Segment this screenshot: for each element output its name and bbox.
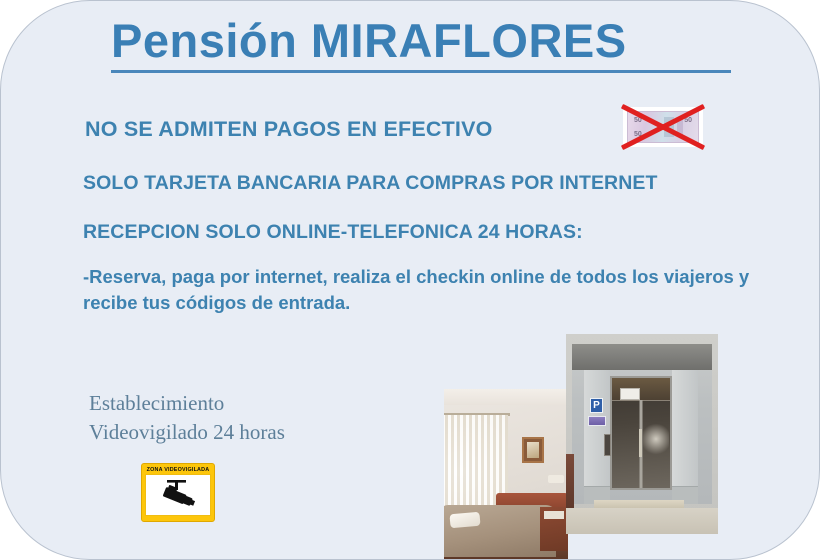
notice-card-only: SOLO TARJETA BANCARIA PARA COMPRAS POR I…: [83, 172, 658, 195]
entrance-secondary-plaque: [588, 416, 606, 426]
entrance-door-notice: [620, 388, 640, 400]
bedroom-nightstand: [540, 507, 568, 551]
entrance-photo: P: [566, 334, 718, 534]
bedroom-framed-picture: [522, 437, 544, 463]
notice-no-cash: NO SE ADMITEN PAGOS EN EFECTIVO: [85, 117, 493, 142]
entrance-neighbouring-wall: [566, 454, 574, 508]
video-surveillance-sign: ZONA VIDEOVIGILADA: [141, 463, 215, 522]
entrance-pavement: [566, 508, 718, 534]
notice-paragraph: -Reserva, paga por internet, realiza el …: [83, 264, 755, 317]
notice-reception: RECEPCION SOLO ONLINE-TELEFONICA 24 HORA…: [83, 221, 583, 244]
poster-card: Pensión MIRAFLORES NO SE ADMITEN PAGOS E…: [0, 0, 820, 560]
entrance-pilaster-right: [672, 370, 698, 504]
cctv-camera-icon: [145, 474, 211, 516]
title-underline: [111, 70, 731, 73]
surveillance-text: Establecimiento Videovigilado 24 horas: [89, 389, 285, 446]
bedroom-wall-outlet: [548, 475, 564, 483]
entrance-intercom: [604, 434, 611, 456]
title-block: Pensión MIRAFLORES: [111, 17, 731, 73]
bedroom-photo: [444, 389, 568, 560]
red-cross-icon: [623, 107, 703, 147]
entrance-interior-light: [643, 422, 669, 456]
crossed-out-banknote-icon: 50 50 50: [623, 107, 703, 147]
bedroom-towels: [449, 512, 480, 529]
entrance-door-handle: [639, 429, 642, 457]
video-surveillance-sign-caption: ZONA VIDEOVIGILADA: [145, 466, 211, 474]
entrance-lintel: [572, 344, 712, 370]
bedroom-ceiling: [444, 389, 568, 405]
page-title: Pensión MIRAFLORES: [111, 17, 731, 66]
pension-p-plaque: P: [590, 398, 603, 413]
